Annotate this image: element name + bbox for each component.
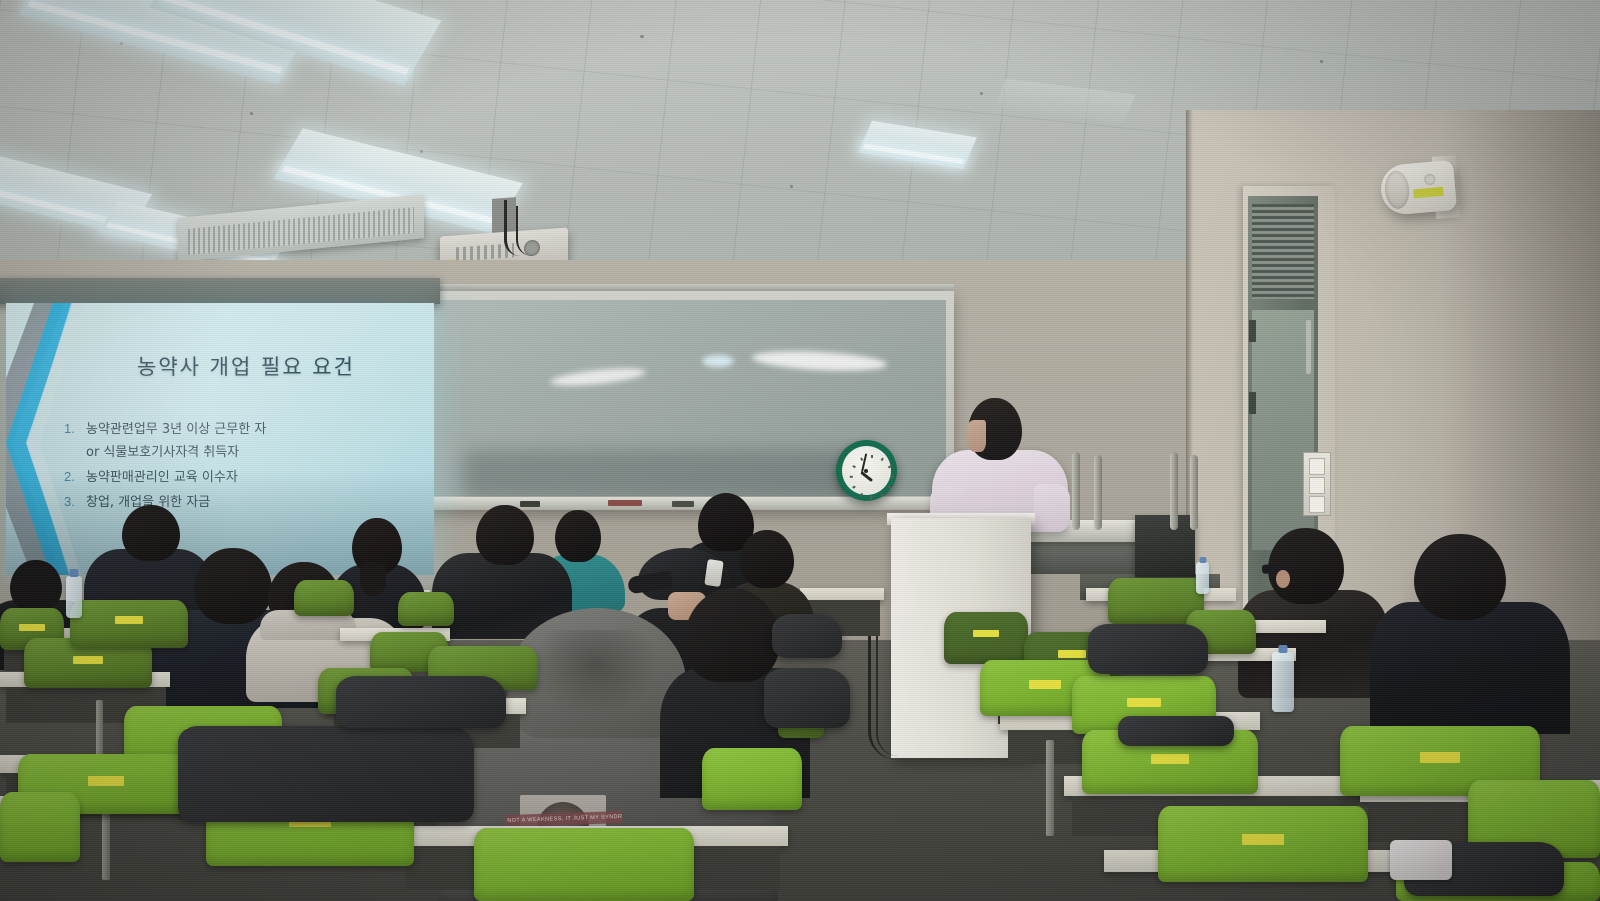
stool-pole-1 [1072, 452, 1080, 530]
speaker-knob [1424, 173, 1436, 185]
slide-item-2-number: 2. [64, 469, 86, 484]
presenter [930, 398, 1070, 528]
switch-1[interactable] [1309, 458, 1325, 475]
whiteboard-glare-2 [702, 355, 734, 367]
student-leather-head [476, 505, 534, 565]
door-hinge-bottom [1249, 392, 1256, 414]
chair-podium-right-1[interactable] [944, 612, 1028, 664]
chair-back-panel [70, 600, 188, 648]
classroom-photo: 농약사 개업 필요 요건 1. 농약관련업무 3년 이상 근무한 자 or 식물… [0, 0, 1600, 901]
projector-cable-2 [516, 206, 532, 256]
presenter-face [966, 420, 986, 452]
stool-pole-3 [1170, 452, 1178, 530]
chair-label [1420, 752, 1460, 763]
chair-label [1242, 834, 1284, 845]
wall-speaker-icon [1379, 160, 1457, 216]
slide-title: 농약사 개업 필요 요건 [96, 351, 396, 381]
stool-pole-2 [1094, 455, 1102, 530]
bottle-cap [70, 569, 79, 577]
chair-back-panel [474, 828, 694, 901]
chair-label [1029, 680, 1061, 689]
stool-pole-4 [1190, 455, 1198, 530]
student-right-puffer-torso [1370, 602, 1570, 734]
tray-eraser[interactable] [608, 500, 642, 506]
backpack-left[interactable] [178, 726, 474, 822]
student-right-glasses-ear [1276, 570, 1290, 588]
whiteboard-reflection-shadow [462, 450, 882, 500]
speaker-label [1413, 187, 1444, 199]
bottle-cap [1279, 645, 1288, 653]
chair-mid-left-1[interactable] [294, 580, 354, 616]
chair-bottom-right-1[interactable] [1158, 806, 1368, 882]
door-hinge-top [1249, 320, 1256, 342]
chair-center-front[interactable] [474, 828, 694, 901]
water-bottle-right[interactable] [1272, 652, 1294, 712]
student-right-glasses-torso [1238, 590, 1388, 698]
teacher-monitor[interactable] [1135, 515, 1195, 577]
switch-3[interactable] [1309, 496, 1325, 513]
foreground-neighbor-head [684, 588, 780, 682]
slide-item-2-text: 농약판매관리인 교육 이수자 [86, 469, 238, 486]
chair-label [115, 616, 143, 624]
whiteboard-glare-3 [752, 348, 888, 373]
whiteboard-glare-1 [550, 365, 647, 389]
chair-label [73, 656, 103, 664]
projection-screen-housing [0, 278, 440, 304]
chair-label [88, 776, 124, 786]
chair-label [19, 624, 45, 631]
slide-bullet-list: 1. 농약관련업무 3년 이상 근무한 자 or 식물보호기사자격 취득자 2.… [64, 421, 404, 518]
chair-back-panel [0, 792, 80, 862]
water-bottle-podium[interactable] [1196, 562, 1209, 594]
coat-on-chair-right[interactable] [1088, 624, 1208, 674]
presenter-arm-right [1034, 484, 1070, 530]
student-right-glasses [1238, 528, 1388, 698]
chair-back-panel [944, 612, 1028, 664]
switch-2[interactable] [1309, 477, 1325, 494]
student-right-of-cap-head [740, 530, 794, 588]
chair-label [1127, 698, 1161, 707]
student-right-puffer [1370, 534, 1570, 734]
slide-item-1-number: 1. [64, 421, 86, 436]
coat-on-desk-right[interactable] [1118, 716, 1234, 746]
clock-center-pin [864, 469, 868, 473]
chair-back-panel [294, 580, 354, 616]
slide-item-1-text: 농약관련업무 3년 이상 근무한 자 [86, 421, 266, 438]
light-switch-panel[interactable] [1303, 452, 1331, 516]
water-bottle-left[interactable] [66, 576, 82, 618]
chair-left-row5[interactable] [0, 792, 80, 862]
chair-label [1058, 650, 1086, 658]
slide-item-2: 2. 농약판매관리인 교육 이수자 [64, 469, 404, 486]
backpack-left-small[interactable] [336, 676, 506, 728]
student-right-puffer-head [1414, 534, 1506, 620]
desk-right-mid-leg [1046, 740, 1054, 836]
hoodie-graphic-band-1: IT IS NOT A WEAKNESS, IT JUST MY SYNDROM… [506, 811, 622, 827]
bottle-cap [1199, 557, 1206, 563]
bag-behind-cap[interactable] [772, 614, 842, 658]
chair-back-panel [398, 592, 454, 626]
slide-item-1-sub: or 식물보호기사자격 취득자 [64, 441, 404, 460]
chair-label [973, 630, 999, 637]
student-leftmost-edge-head [10, 560, 62, 612]
chair-back-left-3[interactable] [70, 600, 188, 648]
slide-item-3-number: 3. [64, 494, 86, 509]
chair-center-mid[interactable] [702, 748, 802, 810]
chair-label [1151, 754, 1189, 764]
slide-item-1: 1. 농약관련업무 3년 이상 근무한 자 [64, 421, 404, 438]
wall-clock [836, 440, 897, 501]
door-louver-vent [1252, 204, 1314, 299]
hoodie-graphic-text-1: IT IS NOT A WEAKNESS, IT JUST MY SYNDROM… [506, 813, 622, 824]
door-handle[interactable] [1306, 320, 1311, 374]
chair-mid-left-2[interactable] [398, 592, 454, 626]
chair-back-panel [702, 748, 802, 810]
speaker-grille [1383, 170, 1410, 210]
foreground-hood-shadow [530, 630, 660, 716]
bag-center-front[interactable] [764, 668, 850, 728]
paper-bag-bottom-right[interactable] [1390, 840, 1452, 880]
floor-cable-2 [876, 616, 898, 756]
